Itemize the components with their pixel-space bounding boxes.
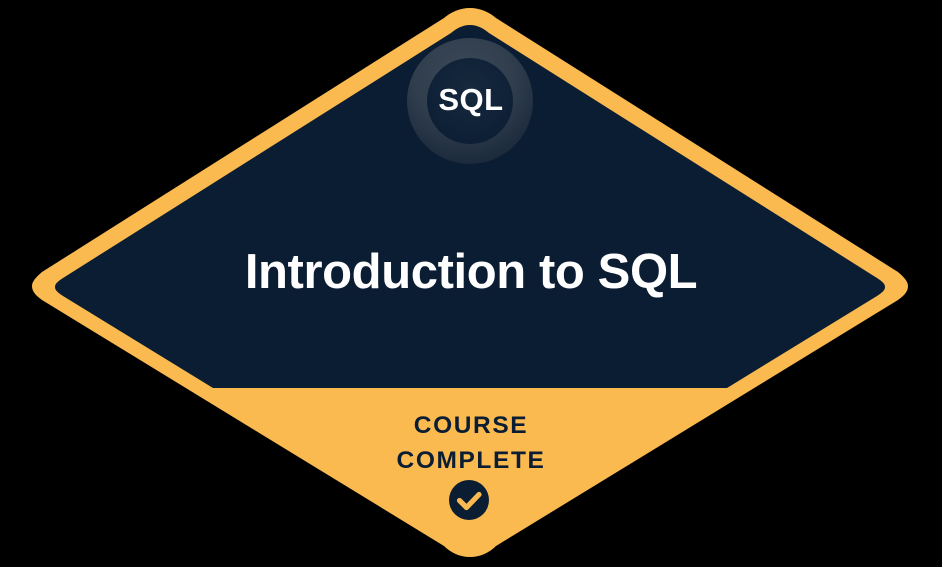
course-completion-badge: SQL Introduction to SQL COURSE COMPLETE (0, 0, 942, 567)
sql-topic-emblem (407, 38, 533, 164)
emblem-inner-core (427, 58, 513, 144)
completion-check-badge (449, 480, 489, 520)
check-badge-circle (449, 480, 489, 520)
diamond-body (0, 0, 942, 567)
badge-graphic (0, 0, 942, 567)
